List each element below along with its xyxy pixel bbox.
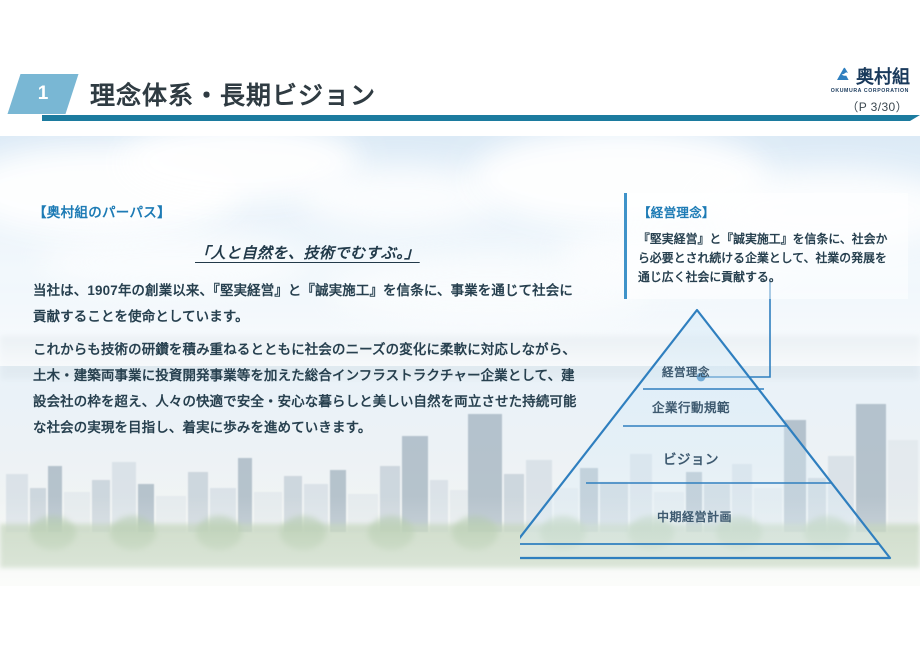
company-logo: 奥村組 OKUMURA CORPORATION （P 3/30）: [831, 66, 910, 115]
page-indicator: （P 3/30）: [831, 98, 908, 115]
logo-company-subtitle: OKUMURA CORPORATION: [831, 88, 909, 94]
purpose-heading: 【奥村組のパーパス】: [33, 201, 171, 221]
page-title: 理念体系・長期ビジョン: [90, 76, 376, 112]
purpose-tagline: 「人と自然を、技術でむすぶ。」: [195, 242, 420, 263]
philosophy-pyramid-diagram: 経営理念 企業行動規範 ビジョン 中期経営計画: [520, 300, 920, 560]
pyramid-tier-label-vision: ビジョン: [663, 448, 719, 468]
section-number-badge: 1: [8, 74, 79, 114]
pyramid-tier-label-code-of-conduct: 企業行動規範: [652, 397, 730, 416]
pyramid-tier-label-management-philosophy: 経営理念: [662, 364, 710, 380]
slide-header: 1 理念体系・長期ビジョン 奥村組 OKUMURA CORPORATION （P…: [0, 0, 920, 136]
management-philosophy-callout: 【経営理念】 『堅実経営』と『誠実施工』を信条に、社会から必要とされ続ける企業と…: [624, 193, 908, 299]
section-number-label: 1: [14, 74, 72, 114]
purpose-paragraph-2: これからも技術の研鑽を積み重ねるとともに社会のニーズの変化に柔軟に対応しながら、…: [33, 337, 578, 441]
callout-body: 『堅実経営』と『誠実施工』を信条に、社会から必要とされ続ける企業として、社業の発…: [638, 230, 898, 287]
callout-heading: 【経営理念】: [638, 202, 898, 221]
logo-company-name: 奥村組: [856, 68, 910, 86]
purpose-paragraph-1: 当社は、1907年の創業以来、『堅実経営』と『誠実施工』を信条に、事業を通じて社…: [33, 278, 578, 330]
header-underline: [42, 115, 910, 121]
okumura-wave-mark-icon: [836, 66, 853, 87]
pyramid-tier-label-midterm-plan: 中期経営計画: [657, 508, 732, 525]
